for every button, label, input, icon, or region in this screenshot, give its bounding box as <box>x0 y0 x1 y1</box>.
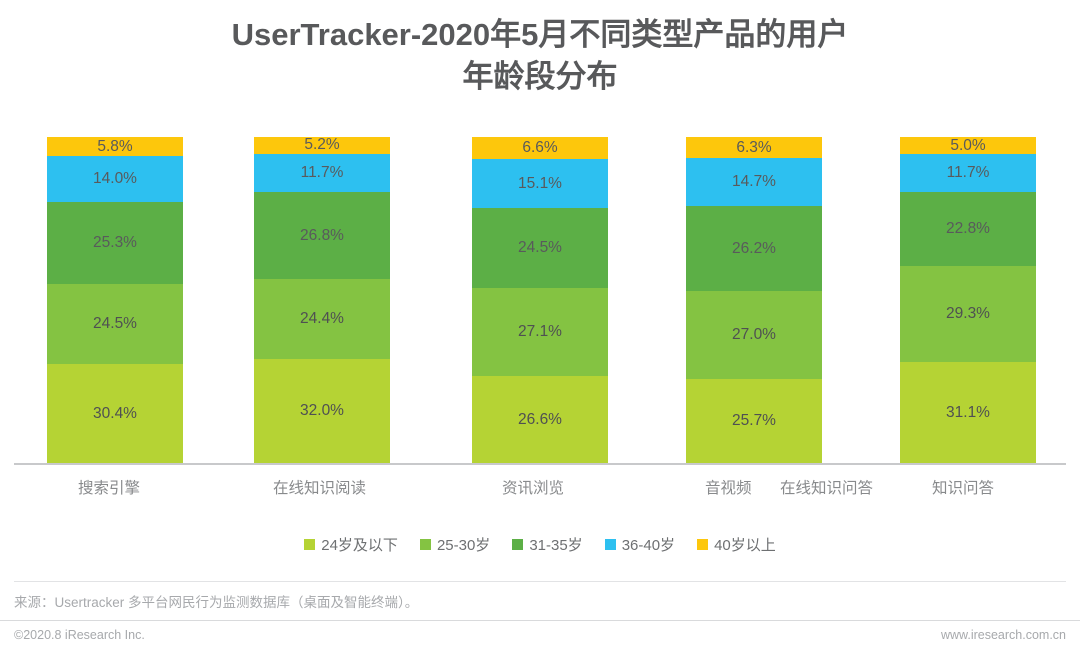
bar-segment-label: 24.5% <box>518 240 562 256</box>
bar-segment[interactable]: 5.0% <box>900 137 1036 153</box>
source-divider <box>14 581 1066 582</box>
bar-segment[interactable]: 27.0% <box>686 291 822 379</box>
bar-segment[interactable]: 26.2% <box>686 206 822 291</box>
legend-item[interactable]: 31-35岁 <box>512 534 582 555</box>
chart-page: UserTracker-2020年5月不同类型产品的用户 年龄段分布 5.8%1… <box>0 0 1080 651</box>
bar-segment-label: 31.1% <box>946 405 990 421</box>
bar-segment-label: 11.7% <box>947 165 990 181</box>
chart-legend: 24岁及以下25-30岁31-35岁36-40岁40岁以上 <box>0 534 1080 555</box>
bar-segment[interactable]: 11.7% <box>254 154 390 192</box>
x-axis-label: 搜索引擎 <box>78 478 140 500</box>
bar-segment[interactable]: 6.3% <box>686 137 822 158</box>
bar-segment[interactable]: 31.1% <box>900 362 1036 463</box>
bar-segment[interactable]: 11.7% <box>900 154 1036 192</box>
legend-item[interactable]: 36-40岁 <box>605 534 675 555</box>
legend-swatch-icon <box>512 539 523 550</box>
legend-label: 24岁及以下 <box>321 534 398 555</box>
legend-swatch-icon <box>697 539 708 550</box>
legend-swatch-icon <box>420 539 431 550</box>
bar-segment-label: 26.6% <box>518 412 562 428</box>
bar-segment-label: 24.5% <box>93 316 137 332</box>
bar-segment-label: 30.4% <box>93 406 137 422</box>
legend-label: 25-30岁 <box>437 534 490 555</box>
bar-segment[interactable]: 27.1% <box>472 288 608 376</box>
legend-item[interactable]: 40岁以上 <box>697 534 776 555</box>
chart-plot-area: 5.8%14.0%25.3%24.5%30.4%5.2%11.7%26.8%24… <box>0 130 1080 470</box>
x-axis-label: 音视频 <box>705 478 752 500</box>
legend-swatch-icon <box>605 539 616 550</box>
bar-segment[interactable]: 15.1% <box>472 159 608 208</box>
bar-segment[interactable]: 30.4% <box>47 364 183 463</box>
bar-segment-label: 24.4% <box>300 311 344 327</box>
bar-segment[interactable]: 14.7% <box>686 158 822 206</box>
x-axis-label: 在线知识问答 <box>780 478 873 500</box>
bar-segment-label: 27.1% <box>518 324 562 340</box>
legend-label: 40岁以上 <box>714 534 776 555</box>
x-axis-line <box>14 463 1066 465</box>
bar-segment-label: 6.3% <box>736 140 771 156</box>
x-axis-label: 资讯浏览 <box>502 478 564 500</box>
bar-segment[interactable]: 5.8% <box>47 137 183 156</box>
bar-segment-label: 5.2% <box>304 137 339 153</box>
bar-segment-label: 6.6% <box>522 140 557 156</box>
bar-segment-label: 22.8% <box>946 221 990 237</box>
bar-segment[interactable]: 26.6% <box>472 376 608 463</box>
stacked-bar[interactable]: 5.0%11.7%22.8%29.3%31.1% <box>900 137 1036 463</box>
bar-segment-label: 26.8% <box>300 228 344 244</box>
bar-segment-label: 27.0% <box>732 327 776 343</box>
bar-segment[interactable]: 32.0% <box>254 359 390 463</box>
x-axis-label: 知识问答 <box>932 478 994 500</box>
bar-segment[interactable]: 29.3% <box>900 266 1036 362</box>
page-title-line-1: UserTracker-2020年5月不同类型产品的用户 <box>0 14 1080 56</box>
bar-segment-label: 26.2% <box>732 241 776 257</box>
page-title-line-2: 年龄段分布 <box>0 56 1080 98</box>
footer-divider <box>0 620 1080 621</box>
bar-segment-label: 29.3% <box>946 306 990 322</box>
page-title: UserTracker-2020年5月不同类型产品的用户 年龄段分布 <box>0 14 1080 98</box>
stacked-bar[interactable]: 6.6%15.1%24.5%27.1%26.6% <box>472 137 608 463</box>
copyright-text: ©2020.8 iResearch Inc. <box>14 628 145 642</box>
stacked-bar[interactable]: 5.2%11.7%26.8%24.4%32.0% <box>254 137 390 463</box>
website-url[interactable]: www.iresearch.com.cn <box>941 628 1066 642</box>
bar-segment-label: 25.3% <box>93 235 137 251</box>
bar-segment[interactable]: 22.8% <box>900 192 1036 266</box>
bar-segment-label: 14.0% <box>93 171 137 187</box>
bar-segment-label: 11.7% <box>301 165 344 181</box>
bar-segment-label: 5.0% <box>950 138 985 154</box>
bar-segment[interactable]: 26.8% <box>254 192 390 279</box>
bar-segment[interactable]: 24.5% <box>47 284 183 364</box>
legend-item[interactable]: 24岁及以下 <box>304 534 398 555</box>
stacked-bar[interactable]: 6.3%14.7%26.2%27.0%25.7% <box>686 137 822 463</box>
legend-label: 31-35岁 <box>529 534 582 555</box>
legend-label: 36-40岁 <box>622 534 675 555</box>
bar-segment-label: 15.1% <box>518 176 562 192</box>
bar-segment[interactable]: 25.3% <box>47 202 183 284</box>
bar-segment[interactable]: 25.7% <box>686 379 822 463</box>
bar-segment-label: 25.7% <box>732 413 776 429</box>
legend-item[interactable]: 25-30岁 <box>420 534 490 555</box>
bar-segment[interactable]: 6.6% <box>472 137 608 159</box>
bar-segment-label: 5.8% <box>97 139 132 155</box>
bar-segment-label: 14.7% <box>732 174 776 190</box>
x-axis-label: 在线知识阅读 <box>273 478 366 500</box>
bar-segment-label: 32.0% <box>300 403 344 419</box>
x-axis-category-labels: 搜索引擎在线知识阅读资讯浏览音视频在线知识问答知识问答 <box>0 478 1080 504</box>
legend-swatch-icon <box>304 539 315 550</box>
source-note: 来源：Usertracker 多平台网民行为监测数据库（桌面及智能终端）。 <box>14 591 418 611</box>
bar-segment[interactable]: 24.4% <box>254 279 390 359</box>
bar-segment[interactable]: 5.2% <box>254 137 390 154</box>
bar-segment[interactable]: 24.5% <box>472 208 608 288</box>
stacked-bar[interactable]: 5.8%14.0%25.3%24.5%30.4% <box>47 137 183 463</box>
bar-segment[interactable]: 14.0% <box>47 156 183 202</box>
